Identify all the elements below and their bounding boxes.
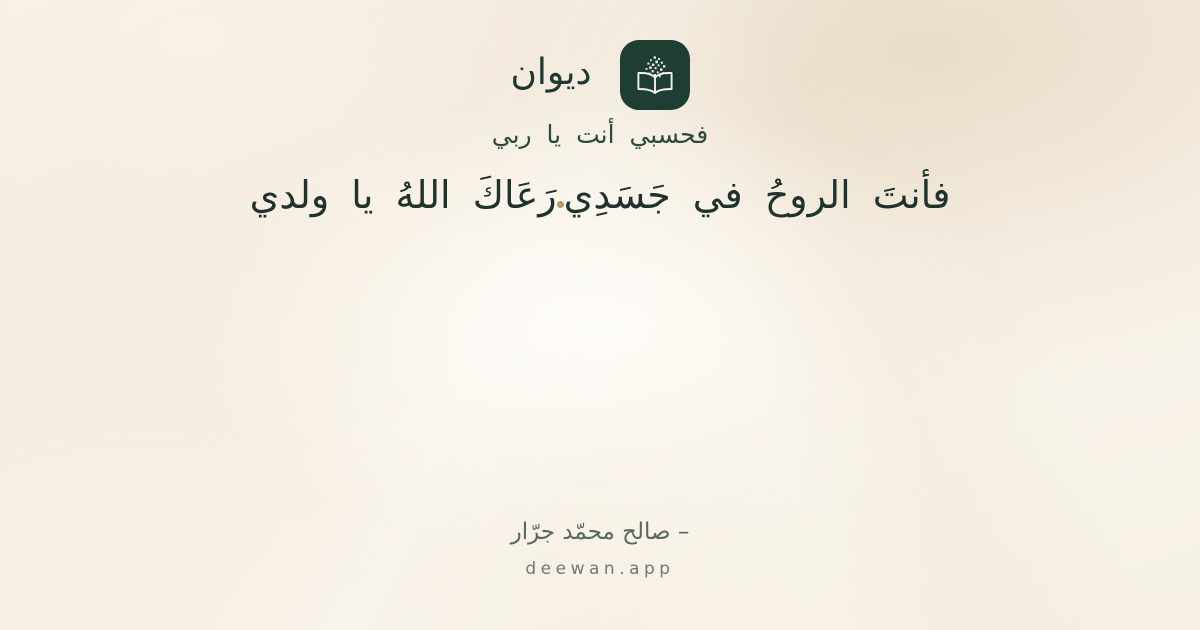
verse-hemistich-first: رَعَاكَ اللهُ يا ولدي (188, 168, 557, 223)
poem-author: – صالح محمّد جرّار (0, 518, 1200, 548)
brand-header: ديوان (0, 40, 1200, 110)
poem-card: ديوان فحسبي أنت يا ربي فأنتَ الروحُ في ج… (0, 0, 1200, 630)
brand-name: ديوان (510, 55, 591, 95)
dot-separator-icon (557, 201, 564, 208)
verse-hemistich-second: فأنتَ الروحُ في جَسَدِي (564, 168, 1013, 223)
site-url[interactable]: deewan.app (0, 558, 1200, 580)
verse-line: فأنتَ الروحُ في جَسَدِي رَعَاكَ اللهُ يا… (0, 168, 1200, 223)
open-book-sparkles-icon (632, 52, 678, 98)
card-footer: – صالح محمّد جرّار deewan.app (0, 518, 1200, 580)
poem-subtitle: فحسبي أنت يا ربي (0, 120, 1200, 150)
card-content: ديوان فحسبي أنت يا ربي فأنتَ الروحُ في ج… (0, 0, 1200, 630)
brand-logo-mark[interactable] (620, 40, 690, 110)
